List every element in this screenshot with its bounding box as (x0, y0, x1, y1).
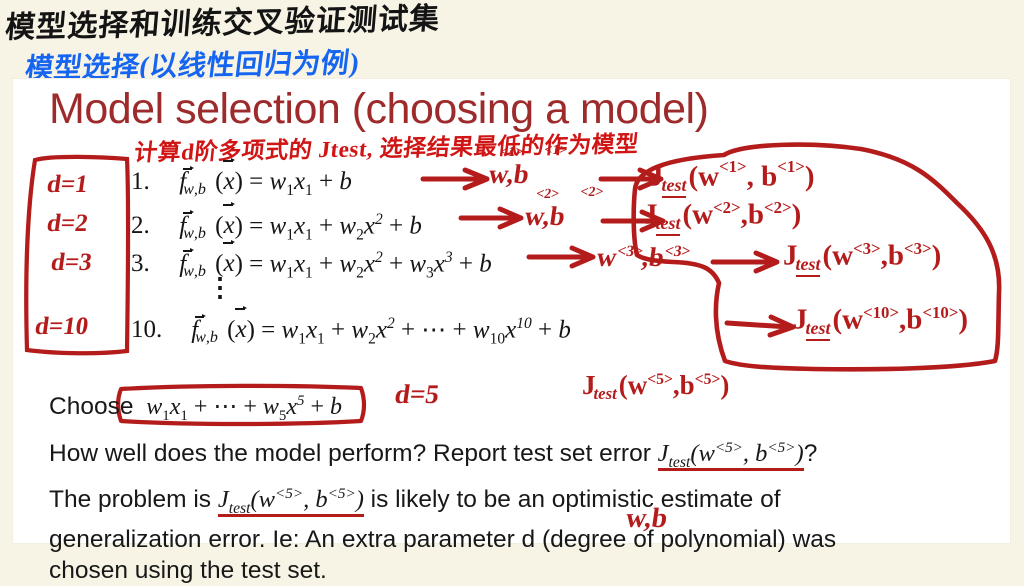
paragraph-line-3-suffix: is likely to be an optimistic estimate o… (364, 486, 781, 513)
paragraph-line-2-text: How well does the model perform? Report … (49, 440, 658, 467)
choose-line: Choose w1x1 + ⋯ + w5x5 + b (49, 386, 1009, 432)
annotation-jtest-3: Jtest(w<3>,b<3>) (783, 239, 941, 273)
chosen-equation: w1x1 + ⋯ + w5x5 + b (140, 394, 348, 420)
equation-row: 1. fw,b (x) = w1x1 + b (131, 163, 791, 201)
paragraph-line-3: The problem is Jtest(w<5>, b<5>) is like… (49, 478, 1009, 524)
equation-number: 1. (131, 163, 173, 201)
jtest-inline-1: Jtest(w<5>, b<5>) (658, 440, 804, 471)
equation-row: 3. fw,b (x) = w1x1 + w2x2 + w3x3 + b (131, 239, 791, 277)
annotation-jtest-10: Jtest(w<10>,b<10>) (793, 303, 968, 337)
slide-canvas: Model selection (choosing a model) 计算d阶多… (13, 79, 1010, 543)
equation-number: 3. (131, 245, 173, 283)
equation-row: 10. fw,b (x) = w1x1 + w2x2 + ⋯ + w10x10 … (131, 305, 791, 343)
degree-label-1: d=1 (45, 171, 90, 199)
degree-label-2: d=2 (45, 210, 90, 238)
paragraph-line-2-suffix: ? (804, 440, 818, 467)
equation-number: 10. (131, 311, 185, 349)
equation-list: 1. fw,b (x) = w1x1 + b 2. fw,b (x) = w1x… (131, 163, 791, 343)
handwritten-header-black: 模型选择和训练交叉验证测试集 (4, 0, 443, 47)
paragraph-line-2: How well does the model perform? Report … (49, 432, 1009, 478)
paragraph-line-4: generalization error. Ie: An extra param… (49, 524, 1009, 555)
equation-row: 2. fw,b (x) = w1x1 + w2x2 + b (131, 201, 791, 239)
body-paragraph: Choose w1x1 + ⋯ + w5x5 + b How well does… (49, 386, 1009, 586)
choose-label: Choose (49, 393, 133, 420)
degree-label-10: d=10 (33, 313, 90, 341)
paragraph-line-5: chosen using the test set. (49, 555, 1009, 586)
paragraph-line-3-prefix: The problem is (49, 486, 218, 513)
degree-label-3: d=3 (49, 249, 94, 277)
jtest-inline-2: Jtest(w<5>, b<5>) (218, 486, 364, 517)
slide-page: 模型选择和训练交叉验证测试集 模型选择(以线性回归为例) Model selec… (0, 0, 1024, 543)
